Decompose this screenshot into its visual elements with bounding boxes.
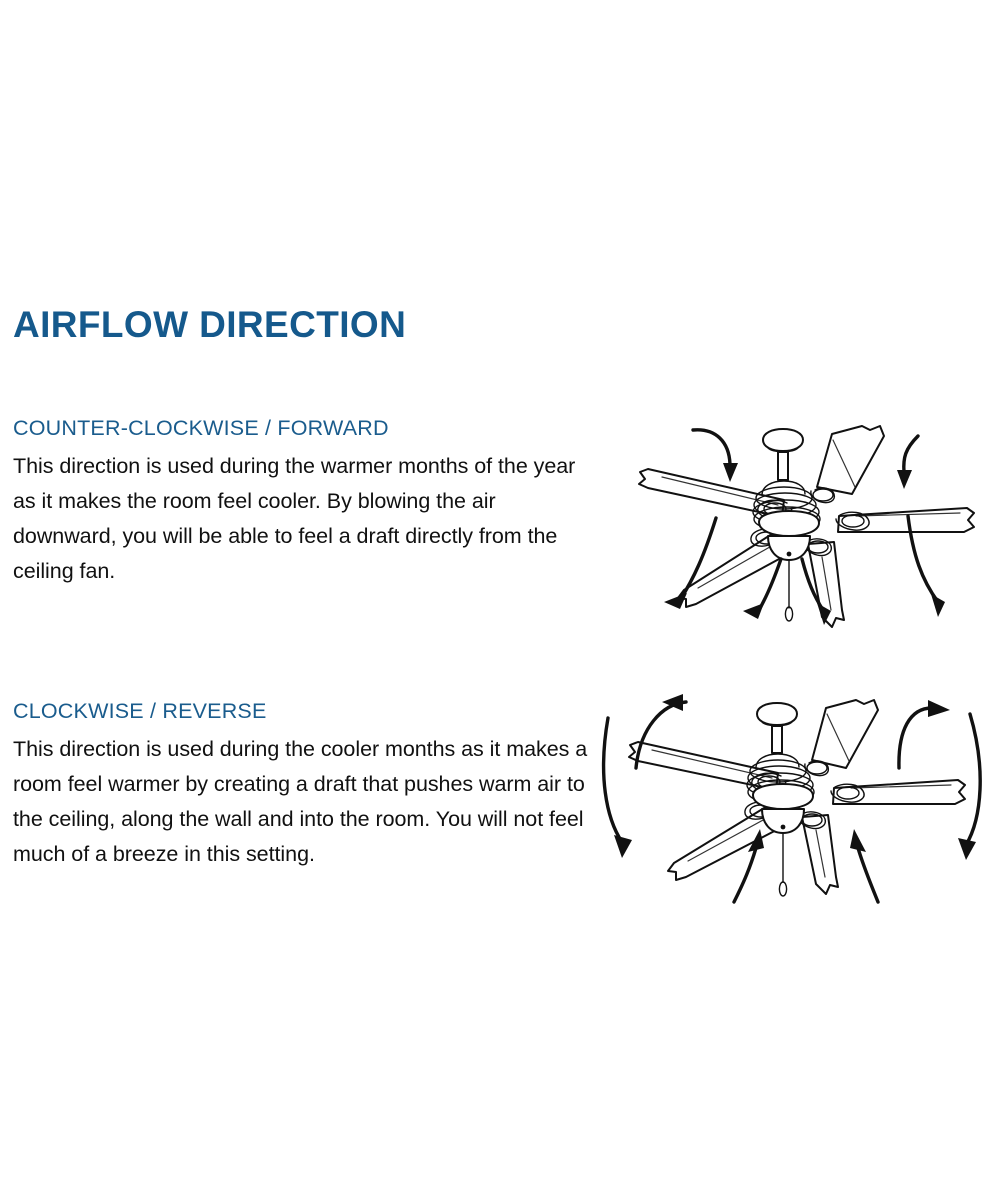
section-heading-clockwise: CLOCKWISE / REVERSE [13, 701, 588, 723]
section-clockwise: CLOCKWISE / REVERSE This direction is us… [13, 701, 588, 872]
ceiling-fan-upward-airflow-illustration [600, 690, 1000, 905]
section-heading-counter-clockwise: COUNTER-CLOCKWISE / FORWARD [13, 418, 588, 440]
page-title: AIRFLOW DIRECTION [13, 306, 406, 343]
section-counter-clockwise: COUNTER-CLOCKWISE / FORWARD This directi… [13, 418, 588, 589]
airflow-direction-page: AIRFLOW DIRECTION COUNTER-CLOCKWISE / FO… [0, 0, 1000, 1200]
section-body-counter-clockwise: This direction is used during the warmer… [13, 449, 588, 589]
fan-motor-housing-group [753, 429, 820, 621]
section-body-clockwise: This direction is used during the cooler… [13, 732, 588, 872]
ceiling-fan-downward-airflow-illustration [612, 412, 997, 652]
fan-motor-housing-group [747, 703, 814, 896]
